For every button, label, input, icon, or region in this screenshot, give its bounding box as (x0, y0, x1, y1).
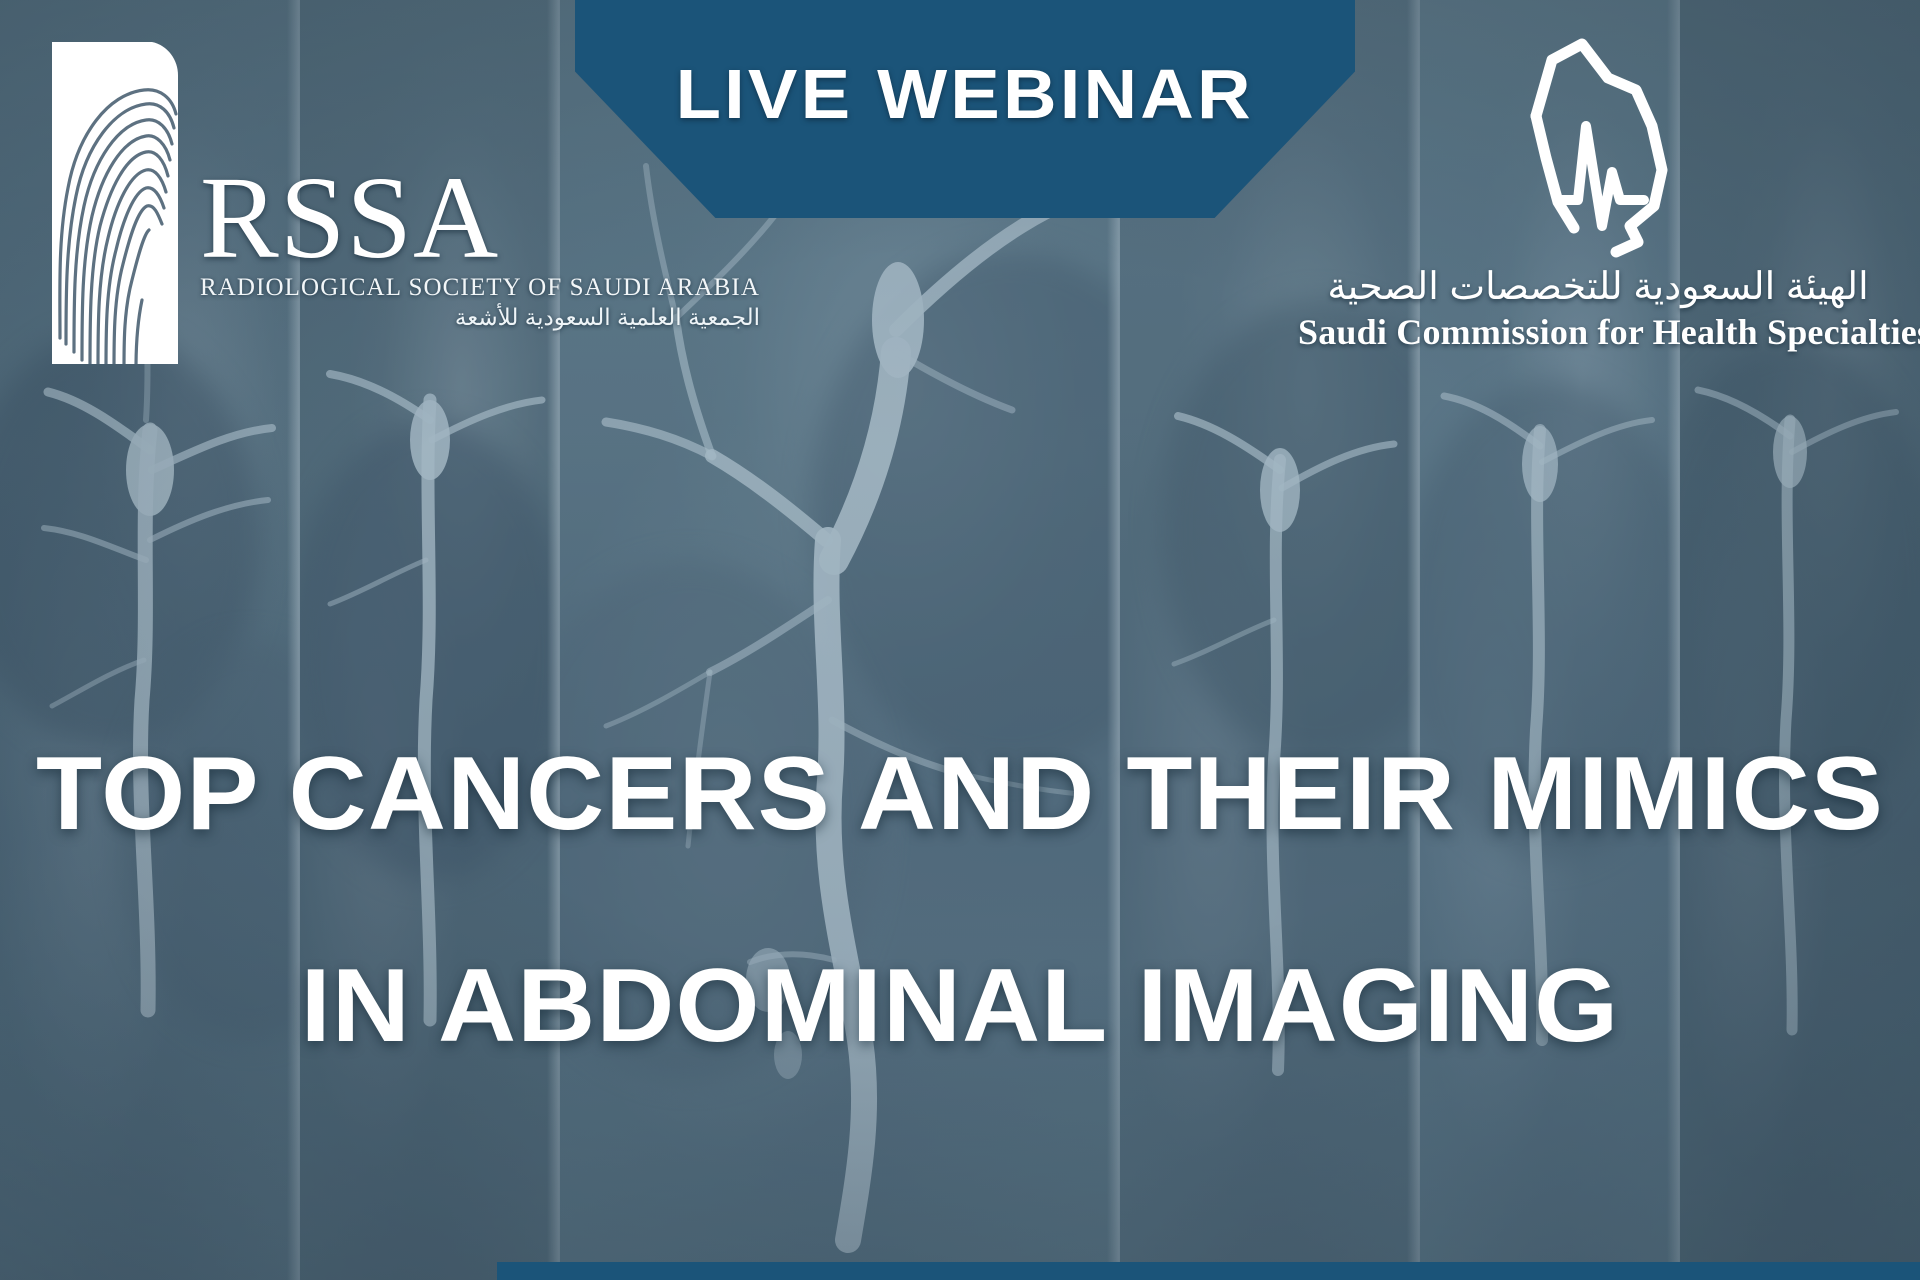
fingerprint-arcs-icon (44, 38, 186, 368)
title-line-1: TOP CANCERS AND THEIR MIMICS (0, 742, 1920, 846)
scfhs-logo: الهيئة السعودية للتخصصات الصحية Saudi Co… (1298, 30, 1898, 353)
rssa-logo: RSSA RADIOLOGICAL SOCIETY OF SAUDI ARABI… (44, 38, 760, 368)
rssa-subtitle: RADIOLOGICAL SOCIETY OF SAUDI ARABIA (200, 274, 760, 302)
webinar-poster: LIVE WEBINAR RS (0, 0, 1920, 1280)
title-line-2: IN ABDOMINAL IMAGING (0, 954, 1920, 1058)
bottom-accent-bar (497, 1262, 1920, 1280)
live-webinar-label: LIVE WEBINAR (676, 54, 1254, 134)
scfhs-english-name: Saudi Commission for Health Specialties (1298, 311, 1898, 353)
scfhs-arabic-name: الهيئة السعودية للتخصصات الصحية (1298, 266, 1898, 309)
rssa-acronym: RSSA (200, 166, 760, 270)
poster-title: TOP CANCERS AND THEIR MIMICS IN ABDOMINA… (0, 742, 1920, 1058)
rssa-arabic-name: الجمعية العلمية السعودية للأشعة (200, 304, 760, 331)
saudi-map-ecg-icon (1512, 30, 1684, 260)
